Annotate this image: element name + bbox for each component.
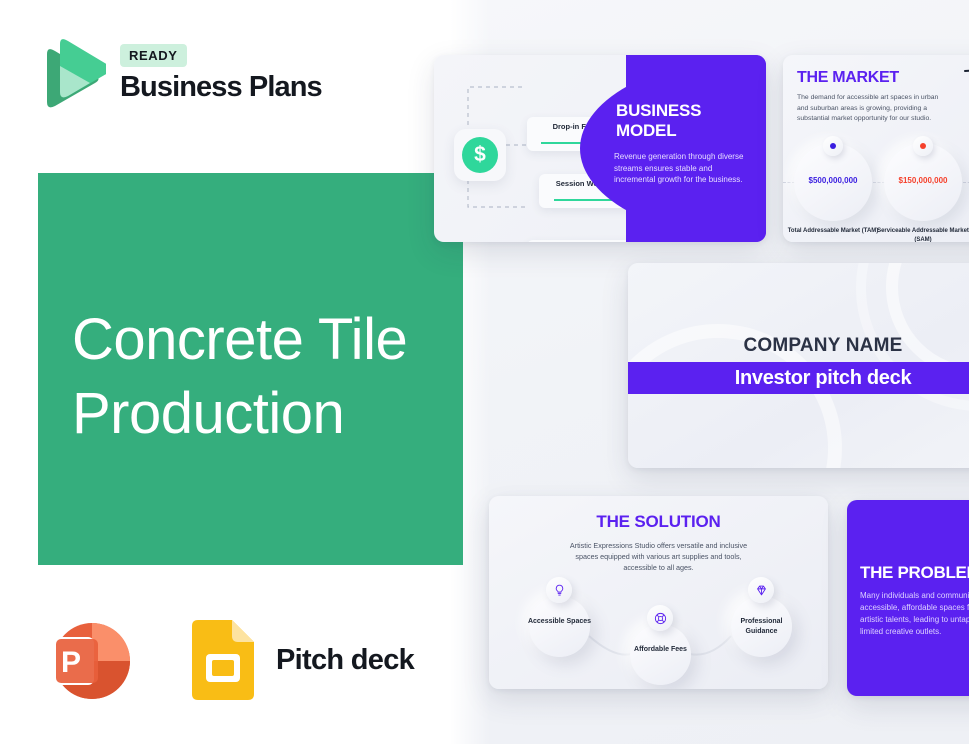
lightbulb-icon — [546, 577, 572, 603]
formats-label: Pitch deck — [276, 644, 414, 677]
solution-pillar-label: Accessible Spaces — [523, 617, 596, 627]
market-knob-icon — [913, 136, 933, 156]
company-subtitle: Investor pitch deck — [628, 367, 969, 390]
solution-pillar-label: Affordable Fees — [624, 645, 697, 655]
play-triangle-logo-icon — [38, 36, 106, 112]
curved-arrow-icon — [963, 65, 969, 113]
slide-solution[interactable]: THE SOLUTION Artistic Expressions Studio… — [489, 496, 828, 689]
slide-market[interactable]: THE MARKET The demand for accessible art… — [783, 55, 969, 242]
dollar-sign-icon: $ — [454, 129, 506, 181]
market-title: THE MARKET — [797, 69, 899, 87]
page-title: Concrete Tile Production — [72, 303, 492, 451]
poster-canvas: Concrete Tile Production READY Business … — [0, 0, 969, 744]
company-name: COMPANY NAME — [628, 335, 969, 357]
brand-text: READY Business Plans — [120, 44, 322, 104]
revenue-stream-item[interactable]: Commissioned Art Sales — [527, 240, 642, 242]
market-metric-caption: Serviceable Addressable Market (SAM) — [871, 227, 969, 242]
slide-business-model[interactable]: $ Drop-in Fees Session Workshops Commiss… — [434, 55, 766, 242]
google-slides-icon — [192, 620, 254, 700]
svg-text:P: P — [61, 646, 81, 679]
business-model-heading: BUSINESS MODEL — [616, 101, 754, 141]
format-row: P Pitch deck — [40, 617, 414, 703]
brand-name: Business Plans — [120, 71, 322, 104]
business-model-body: Revenue generation through diverse strea… — [614, 151, 754, 186]
solution-pillar[interactable]: Accessible Spaces — [529, 596, 590, 657]
ready-badge: READY — [120, 44, 187, 67]
solution-pillar[interactable]: Affordable Fees — [630, 624, 691, 685]
problem-title: THE PROBLEM — [860, 563, 969, 583]
page-title-line-1: Concrete Tile — [72, 303, 492, 377]
market-description: The demand for accessible art spaces in … — [797, 93, 945, 125]
market-metric-caption: Total Addressable Market (TAM) — [783, 227, 885, 236]
diamond-icon — [748, 577, 774, 603]
market-dash — [963, 182, 969, 184]
powerpoint-icon: P — [40, 617, 130, 703]
problem-body: Many individuals and communities lack ac… — [860, 590, 969, 638]
solution-pillar-label: Professional Guidance — [725, 617, 798, 637]
market-metric-circle[interactable]: $500,000,000 — [794, 143, 872, 221]
market-metric-value: $150,000,000 — [884, 176, 962, 185]
slide-problem[interactable]: THE PROBLEM Many individuals and communi… — [847, 500, 969, 696]
company-subtitle-band: Investor pitch deck — [628, 362, 969, 394]
solution-pillar[interactable]: Professional Guidance — [731, 596, 792, 657]
brand-logo[interactable]: READY Business Plans — [38, 36, 322, 112]
market-knob-icon — [823, 136, 843, 156]
business-model-purple-fill — [626, 55, 766, 242]
market-metric-value: $500,000,000 — [794, 176, 872, 185]
lifebuoy-icon — [647, 605, 673, 631]
market-metric-circle[interactable]: $150,000,000 — [884, 143, 962, 221]
slide-company-title[interactable]: COMPANY NAME Investor pitch deck — [628, 263, 969, 468]
page-title-line-2: Production — [72, 377, 492, 451]
